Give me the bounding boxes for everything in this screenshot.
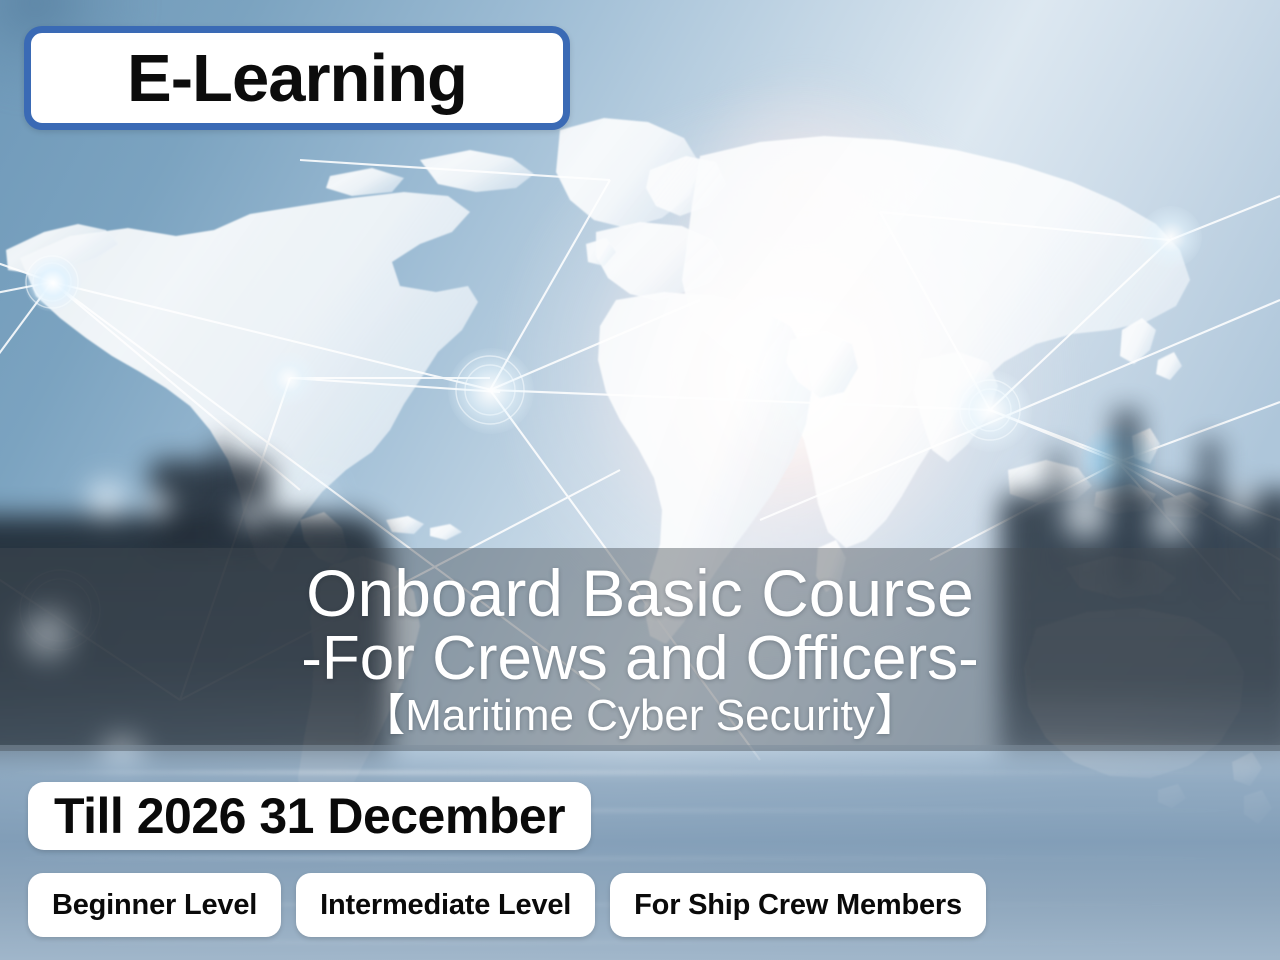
elearning-badge-label: E-Learning	[127, 45, 467, 112]
water-highlight	[0, 941, 1280, 944]
water-highlight	[0, 857, 1280, 860]
tag-intermediate-level[interactable]: Intermediate Level	[296, 873, 595, 937]
course-subtitle: -For Crews and Officers-	[301, 626, 979, 691]
deadline-label: Till 2026 31 December	[54, 791, 565, 841]
bokeh-light	[1222, 482, 1260, 520]
water-highlight	[0, 771, 1280, 774]
bokeh-light	[1058, 488, 1112, 542]
course-topic: 【Maritime Cyber Security】	[361, 693, 918, 739]
bokeh-light	[142, 488, 174, 520]
course-title: Onboard Basic Course	[306, 560, 974, 627]
bokeh-light	[84, 476, 130, 522]
bokeh-light	[1014, 466, 1048, 500]
poster-root: E-Learning Onboard Basic Course -For Cre…	[0, 0, 1280, 960]
tag-label: Intermediate Level	[320, 891, 571, 920]
tag-row: Beginner Level Intermediate Level For Sh…	[28, 873, 986, 937]
tag-label: For Ship Crew Members	[634, 891, 962, 920]
deadline-pill: Till 2026 31 December	[28, 782, 591, 850]
bokeh-light	[1148, 500, 1192, 544]
tag-for-ship-crew-members[interactable]: For Ship Crew Members	[610, 873, 986, 937]
tag-beginner-level[interactable]: Beginner Level	[28, 873, 281, 937]
title-band: Onboard Basic Course -For Crews and Offi…	[0, 548, 1280, 751]
ship-mast	[215, 440, 229, 550]
tag-label: Beginner Level	[52, 891, 257, 920]
bokeh-light	[308, 480, 334, 506]
bokeh-light	[236, 500, 266, 530]
elearning-badge[interactable]: E-Learning	[24, 26, 570, 130]
